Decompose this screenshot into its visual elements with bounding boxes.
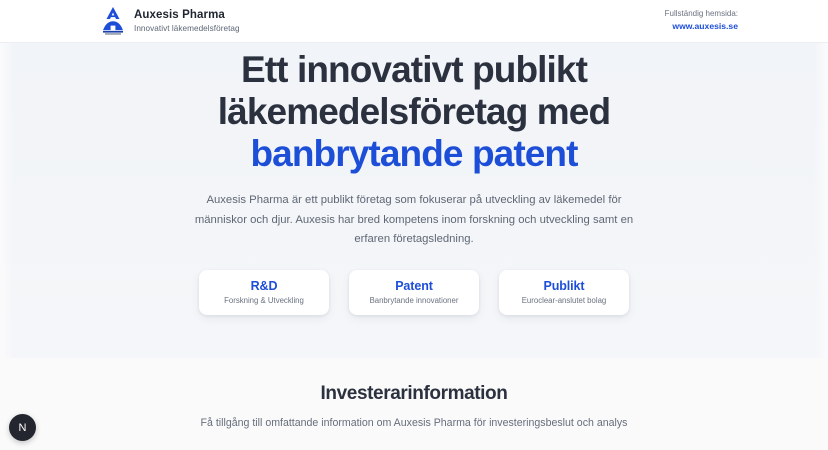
investor-section: Investerarinformation Få tillgång till o…	[0, 358, 828, 450]
feature-card-title: R&D	[251, 280, 278, 293]
header-website-block: Fullständig hemsida: www.auxesis.se	[665, 9, 738, 32]
headline-line-2: läkemedelsföretag med	[0, 91, 828, 133]
page-root: Auxesis Pharma Innovativt läkemedelsföre…	[0, 0, 828, 450]
investor-section-title: Investerarinformation	[0, 358, 828, 405]
feature-card-subtitle: Forskning & Utveckling	[224, 297, 304, 305]
feature-card-subtitle: Banbrytande innovationer	[370, 297, 459, 305]
hero-headline: Ett innovativt publikt läkemedelsföretag…	[0, 43, 828, 174]
brand-name: Auxesis Pharma	[134, 9, 240, 22]
feature-card-publikt[interactable]: Publikt Euroclear-anslutet bolag	[499, 270, 629, 315]
website-label: Fullständig hemsida:	[665, 9, 738, 20]
brand-logo-group[interactable]: Auxesis Pharma Innovativt läkemedelsföre…	[100, 6, 240, 36]
floating-badge-label: N	[19, 422, 27, 434]
feature-card-title: Patent	[395, 280, 433, 293]
headline-line-3-accent: banbrytande patent	[0, 133, 828, 175]
headline-line-1: Ett innovativt publikt	[0, 49, 828, 91]
brand-tagline: Innovativt läkemedelsföretag	[134, 24, 240, 33]
feature-card-rd[interactable]: R&D Forskning & Utveckling	[199, 270, 329, 315]
brand-text: Auxesis Pharma Innovativt läkemedelsföre…	[134, 9, 240, 33]
investor-section-subtitle: Få tillgång till omfattande information …	[0, 405, 828, 431]
feature-card-patent[interactable]: Patent Banbrytande innovationer	[349, 270, 479, 315]
floating-assistant-badge[interactable]: N	[9, 414, 36, 441]
website-link[interactable]: www.auxesis.se	[665, 21, 738, 33]
feature-card-title: Publikt	[544, 280, 585, 293]
feature-card-list: R&D Forskning & Utveckling Patent Banbry…	[0, 250, 828, 315]
auxesis-a-logo-icon	[100, 6, 126, 36]
hero-content: Ett innovativt publikt läkemedelsföretag…	[0, 43, 828, 315]
site-header: Auxesis Pharma Innovativt läkemedelsföre…	[0, 0, 828, 43]
hero-paragraph: Auxesis Pharma är ett publikt företag so…	[188, 174, 640, 249]
hero-section: Ett innovativt publikt läkemedelsföretag…	[0, 43, 828, 358]
feature-card-subtitle: Euroclear-anslutet bolag	[522, 297, 607, 305]
